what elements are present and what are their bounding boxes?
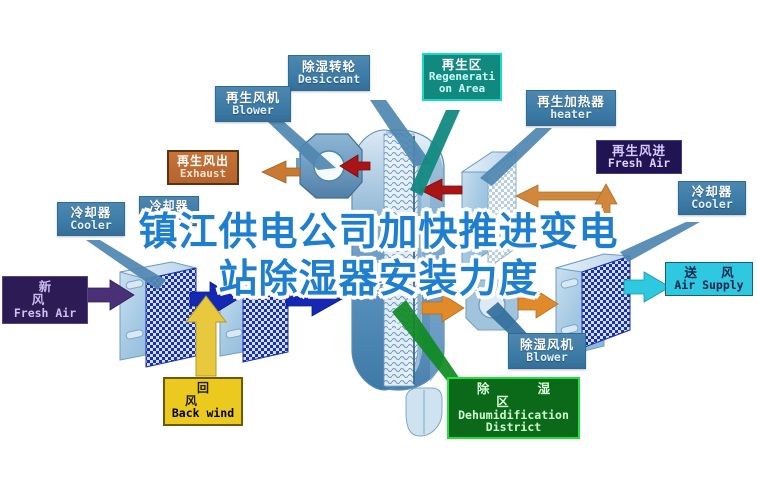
label-regen-heater-en: heater [529, 108, 613, 120]
label-regen-fresh-air-cn: 再生风进 [599, 144, 679, 157]
label-desiccant-wheel-en: Desiccant [291, 73, 367, 85]
label-regen-fresh-air: 再生风进 Fresh Air [596, 140, 682, 174]
headline-line-2: 站除湿器安装力度 [0, 256, 757, 303]
label-back-wind-cn: 回 风 [167, 382, 239, 407]
label-back-wind: 回 风 Back wind [163, 377, 243, 426]
label-dehumidification-district-cn: 除 湿 区 [451, 382, 576, 409]
label-regen-blower-en: Blower [218, 104, 288, 116]
label-dehumidification-district-en-2: District [451, 421, 576, 433]
label-regeneration-area: 再生区 Regenerati on Area [422, 53, 502, 101]
label-desiccant-wheel: 除湿转轮 Desiccant [288, 55, 370, 91]
label-cooler-right-cn: 冷却器 [681, 185, 743, 198]
label-regen-exhaust-en: Exhaust [171, 168, 235, 180]
label-dehumid-blower-cn: 除湿风机 [511, 338, 583, 351]
condensate-scoop [406, 388, 442, 436]
exhaust-arrow [262, 161, 300, 183]
label-regen-heater-cn: 再生加热器 [529, 95, 613, 108]
label-dehumidification-district-en-1: Dehumidification [451, 409, 576, 421]
label-regeneration-area-cn: 再生区 [426, 58, 498, 71]
label-dehumidification-district: 除 湿 区 Dehumidification District [447, 377, 580, 439]
label-regen-exhaust-cn: 再生风出 [171, 155, 235, 168]
label-regen-fresh-air-en: Fresh Air [599, 157, 679, 169]
label-fresh-air-inlet-en: Fresh Air [5, 307, 85, 319]
label-back-wind-en: Back wind [167, 407, 239, 419]
label-regen-blower-cn: 再生风机 [218, 91, 288, 104]
label-regen-blower: 再生风机 Blower [215, 86, 291, 122]
headline-line-1: 镇江供电公司加快推进变电 [0, 209, 757, 256]
page-title: 镇江供电公司加快推进变电 站除湿器安装力度 [0, 209, 757, 303]
label-dehumid-blower: 除湿风机 Blower [508, 333, 586, 369]
diagram-canvas: xh 镇江供电公司加快推进变电 站除湿器安装力度 除湿转轮 Desiccant … [0, 0, 757, 488]
label-regen-heater: 再生加热器 heater [526, 90, 616, 126]
svg-text:xh: xh [386, 319, 404, 334]
label-regeneration-area-en-2: on Area [426, 83, 498, 95]
label-regen-exhaust: 再生风出 Exhaust [167, 150, 239, 185]
label-dehumid-blower-en: Blower [511, 351, 583, 363]
